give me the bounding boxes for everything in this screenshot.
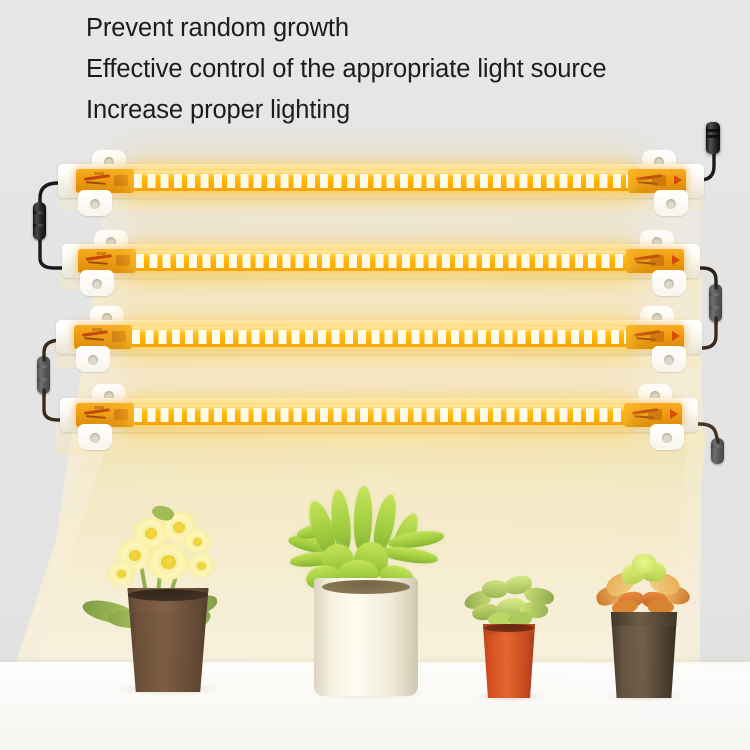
mount-tab-bottom-left-3 [76, 346, 110, 372]
mount-tab-bottom-right-2 [652, 270, 686, 296]
mount-tab-bottom-left-4 [78, 424, 112, 450]
headline-line-1: Prevent random growth [86, 8, 746, 49]
succulent-foliage [592, 548, 696, 616]
flower-petal [184, 530, 210, 553]
grow-light-bar-3[interactable]: 50W [56, 306, 702, 368]
mount-tab-bottom-left-1 [78, 190, 112, 216]
product-image: Prevent random growth Effective control … [0, 0, 750, 750]
grow-light-bar-1[interactable]: 50W [58, 150, 704, 212]
dc-connector-left-upper [33, 202, 46, 240]
led-strip-2 [136, 251, 626, 271]
yellow-flower-plant [104, 502, 234, 692]
mount-tab-bottom-right-3 [652, 346, 686, 372]
grow-light-bar-2[interactable]: 50W [62, 230, 700, 292]
headline-line-3: Increase proper lighting [86, 90, 746, 131]
brown-tapered-pot [122, 588, 214, 692]
dark-square-pot [608, 612, 680, 698]
small-leafy-plant [462, 568, 558, 698]
flower-petal [188, 554, 214, 577]
dc-connector-right-mid [709, 284, 722, 322]
dc-connector-left-lower [37, 356, 50, 394]
mount-tab-bottom-right-1 [654, 190, 688, 216]
terracotta-pot [478, 624, 540, 698]
succulent-plant [592, 548, 696, 698]
headline-block: Prevent random growth Effective control … [86, 8, 746, 131]
led-strip-3 [132, 327, 626, 347]
mount-tab-bottom-left-2 [80, 270, 114, 296]
fern-plant [292, 486, 442, 696]
flower-petal [108, 562, 134, 585]
small-leaf-foliage [462, 568, 558, 628]
dc-connector-right-lower [711, 438, 724, 464]
mount-tab-bottom-right-4 [650, 424, 684, 450]
grow-light-bar-4[interactable]: 50W [60, 384, 698, 446]
headline-line-2: Effective control of the appropriate lig… [86, 49, 746, 90]
flower-petal [148, 544, 188, 580]
led-strip-4 [134, 405, 624, 425]
led-strip-1 [134, 171, 628, 191]
dc-plug-top-right [706, 122, 720, 154]
cream-ceramic-pot [314, 578, 418, 696]
